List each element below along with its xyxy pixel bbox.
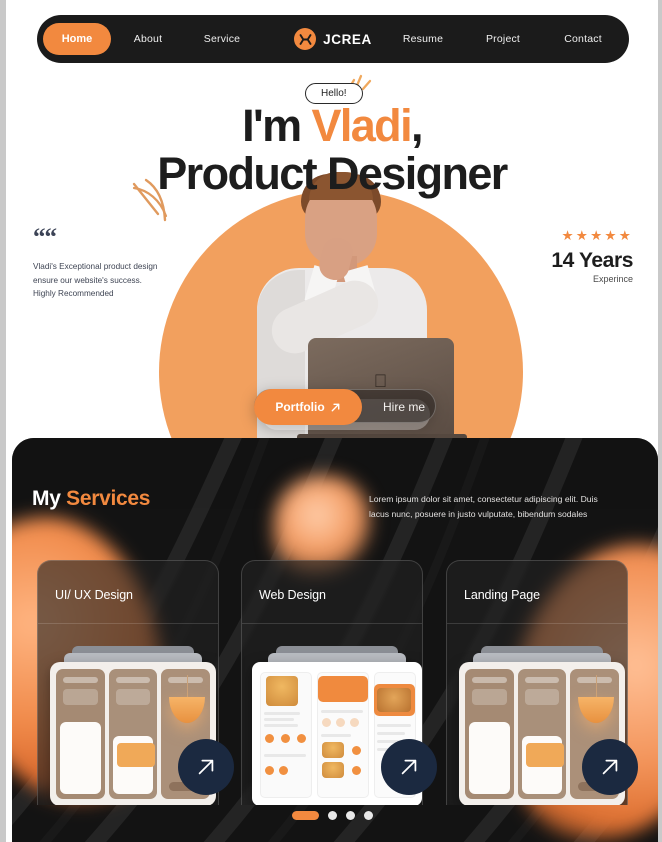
pagination-dot[interactable] bbox=[346, 811, 355, 820]
pagination-dot[interactable] bbox=[328, 811, 337, 820]
nav-item-contact[interactable]: Contact bbox=[543, 33, 623, 45]
service-card-arrow-button-1[interactable] bbox=[178, 739, 234, 795]
hero-cta-group: Portfolio Hire me bbox=[254, 389, 436, 423]
headline-prefix: I'm bbox=[242, 100, 311, 151]
arrow-up-right-icon bbox=[398, 756, 420, 778]
pagination-dot[interactable] bbox=[364, 811, 373, 820]
star-rating-icon: ★★★★★ bbox=[551, 228, 633, 244]
nav-item-service[interactable]: Service bbox=[185, 33, 259, 45]
arrow-up-right-icon bbox=[599, 756, 621, 778]
service-cards-carousel: UI/ UX Design Web Design bbox=[6, 560, 658, 810]
page-title: I'm Vladi, Product Designer bbox=[6, 103, 658, 197]
nav-item-resume[interactable]: Resume bbox=[383, 33, 463, 45]
testimonial-line-3: Highly Recommended bbox=[33, 287, 183, 301]
testimonial-line-2: ensure our website's success. bbox=[33, 274, 183, 288]
main-navigation: Home About Service JCREA Resume Project … bbox=[37, 15, 629, 63]
headline-line2: Product Designer bbox=[6, 151, 658, 197]
service-card-arrow-button-3[interactable] bbox=[582, 739, 638, 795]
nav-item-project[interactable]: Project bbox=[463, 33, 543, 45]
services-title-white: My bbox=[32, 487, 66, 510]
service-card-arrow-button-2[interactable] bbox=[381, 739, 437, 795]
hero-section:  Hello! I'm Vladi, Product Designer ““ … bbox=[6, 0, 658, 455]
brand-logo[interactable]: JCREA bbox=[294, 28, 372, 50]
headline-name: Vladi bbox=[311, 100, 411, 151]
experience-label: Experince bbox=[551, 274, 633, 284]
experience-block: ★★★★★ 14 Years Experince bbox=[551, 228, 633, 284]
arrow-up-right-icon bbox=[330, 402, 341, 413]
hire-me-button[interactable]: Hire me bbox=[383, 390, 425, 424]
testimonial-text: Vladi's Exceptional product design ensur… bbox=[33, 260, 183, 301]
jc-logo-icon bbox=[294, 28, 316, 50]
services-subtitle-line-1: Lorem ipsum dolor sit amet, consectetur … bbox=[369, 492, 647, 507]
testimonial-block: ““ Vladi's Exceptional product design en… bbox=[33, 228, 183, 301]
nav-right-group: Resume Project Contact bbox=[372, 33, 623, 45]
service-card-title: UI/ UX Design bbox=[55, 588, 133, 602]
brand-name: JCREA bbox=[323, 32, 372, 47]
nav-item-about[interactable]: About bbox=[111, 33, 185, 45]
pagination-dot-active[interactable] bbox=[292, 811, 319, 820]
nav-item-home[interactable]: Home bbox=[43, 23, 111, 55]
experience-years: 14 Years bbox=[551, 249, 633, 273]
headline-comma: , bbox=[411, 100, 422, 151]
services-subtitle-line-2: lacus nunc, posuere in justo vulputate, … bbox=[369, 507, 647, 522]
service-card-title: Web Design bbox=[259, 588, 326, 602]
services-title-accent: Services bbox=[66, 487, 150, 510]
carousel-pagination bbox=[6, 811, 658, 820]
service-card-title: Landing Page bbox=[464, 588, 540, 602]
arrow-up-right-icon bbox=[195, 756, 217, 778]
services-subtitle: Lorem ipsum dolor sit amet, consectetur … bbox=[369, 492, 647, 522]
testimonial-line-1: Vladi's Exceptional product design bbox=[33, 260, 183, 274]
services-heading: My Services bbox=[32, 487, 150, 511]
nav-left-group: Home About Service bbox=[43, 23, 294, 55]
portfolio-button-label: Portfolio bbox=[275, 400, 324, 414]
portfolio-page:  Hello! I'm Vladi, Product Designer ““ … bbox=[6, 0, 658, 842]
quote-mark-icon: ““ bbox=[33, 228, 183, 248]
portfolio-button[interactable]: Portfolio bbox=[254, 389, 362, 425]
